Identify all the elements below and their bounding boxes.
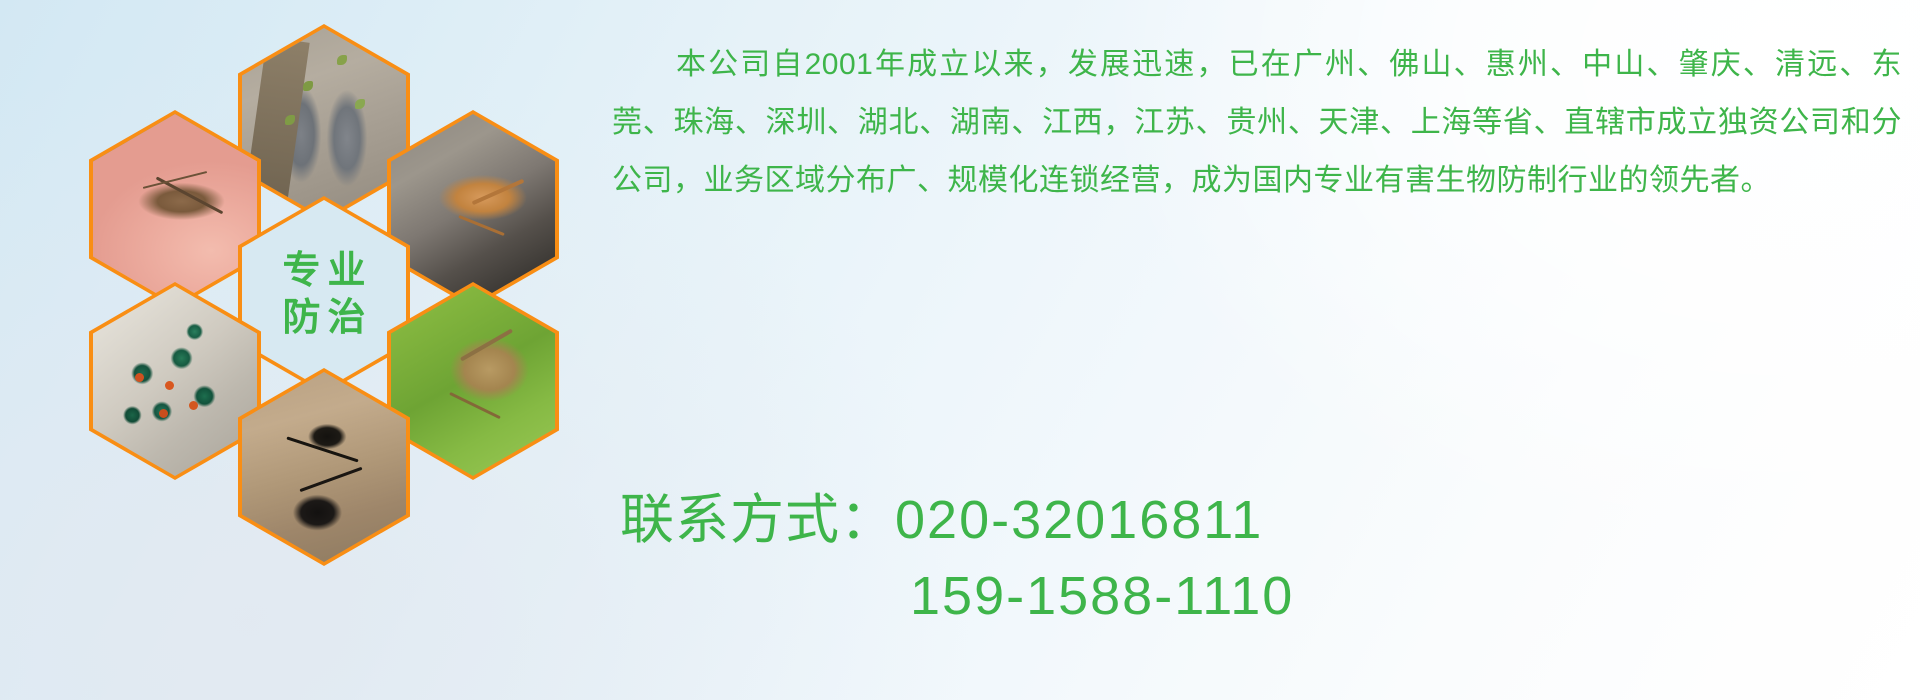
hex-tile-rats: [238, 24, 410, 222]
contact-secondary-line: 159-1588-1110: [620, 558, 1910, 634]
contact-primary-line: 联系方式：020-32016811: [620, 482, 1910, 558]
hex-tile-flies: [89, 282, 261, 480]
contact-block: 联系方式：020-32016811 159-1588-1110: [620, 482, 1910, 634]
promo-banner: 专业 防治 本公司自2001年成立以来，发展迅速，已在广州、佛山、惠州、中山、肇…: [0, 0, 1920, 700]
rats-photo: [242, 28, 406, 218]
contact-label: 联系方式：: [620, 490, 895, 550]
ant-photo: [242, 372, 406, 562]
hex-tile-ant-image: [242, 372, 406, 562]
stinkbug-photo: [391, 286, 555, 476]
hex-tile-mosquito-image: [93, 114, 257, 304]
hex-tile-flies-image: [93, 286, 257, 476]
phone-secondary[interactable]: 159-1588-1110: [910, 566, 1294, 626]
hex-tile-cockroach-image: [391, 114, 555, 304]
phone-primary[interactable]: 020-32016811: [895, 490, 1263, 550]
copy-column: 本公司自2001年成立以来，发展迅速，已在广州、佛山、惠州、中山、肇庆、清远、东…: [612, 36, 1902, 210]
slogan-line-1: 专业: [275, 251, 372, 292]
hex-tile-slogan: 专业 防治: [238, 196, 410, 394]
company-intro-paragraph: 本公司自2001年成立以来，发展迅速，已在广州、佛山、惠州、中山、肇庆、清远、东…: [612, 36, 1902, 210]
hex-tile-rats-image: [242, 28, 406, 218]
mosquito-photo: [93, 114, 257, 304]
flies-photo: [93, 286, 257, 476]
slogan-line-2: 防治: [275, 298, 372, 339]
hexagon-photo-cluster: 专业 防治: [88, 0, 588, 570]
hex-tile-cockroach: [387, 110, 559, 308]
hex-tile-ant: [238, 368, 410, 566]
hex-tile-mosquito: [89, 110, 261, 308]
hex-tile-slogan-panel: 专业 防治: [242, 200, 406, 390]
hex-tile-stinkbug: [387, 282, 559, 480]
hex-tile-stinkbug-image: [391, 286, 555, 476]
cockroach-photo: [391, 114, 555, 304]
